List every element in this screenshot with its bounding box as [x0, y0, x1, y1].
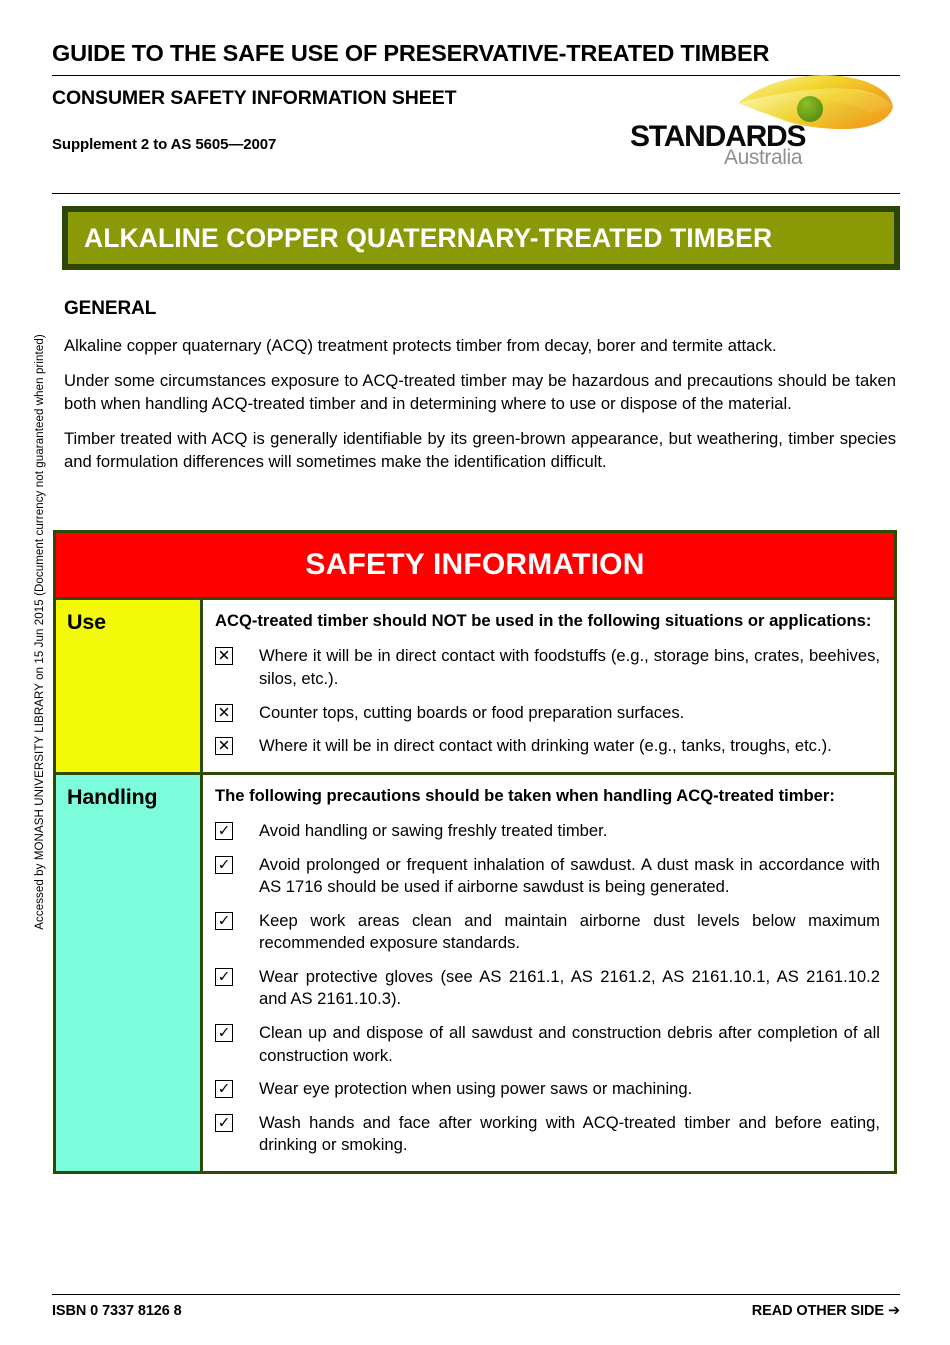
cross-checkbox-icon: ✕ — [215, 647, 233, 665]
use-item-text-3: Where it will be in direct contact with … — [259, 735, 880, 758]
list-item: ✓ Avoid handling or sawing freshly treat… — [215, 820, 880, 843]
cross-glyph: ✕ — [216, 649, 232, 664]
use-intro-text: ACQ-treated timber should NOT be used in… — [215, 610, 880, 632]
read-other-side-note: READ OTHER SIDE ➔ — [752, 1303, 900, 1319]
tick-glyph: ✓ — [216, 1082, 232, 1097]
tick-checkbox-icon: ✓ — [215, 822, 233, 840]
use-item-text-2: Counter tops, cutting boards or food pre… — [259, 702, 880, 725]
list-item: ✓ Keep work areas clean and maintain air… — [215, 910, 880, 955]
safety-row-content-handling: The following precautions should be take… — [203, 775, 894, 1171]
document-header: GUIDE TO THE SAFE USE OF PRESERVATIVE-TR… — [52, 40, 900, 194]
handling-intro-text: The following precautions should be take… — [215, 785, 880, 807]
cross-checkbox-icon: ✕ — [215, 737, 233, 755]
product-banner: ALKALINE COPPER QUATERNARY-TREATED TIMBE… — [62, 206, 900, 270]
list-item: ✓ Wash hands and face after working with… — [215, 1112, 880, 1157]
safety-row-label-use-text: Use — [67, 610, 200, 635]
list-item: ✓ Avoid prolonged or frequent inhalation… — [215, 854, 880, 899]
general-section: GENERAL Alkaline copper quaternary (ACQ)… — [64, 298, 896, 474]
handling-item-text-1: Avoid handling or sawing freshly treated… — [259, 820, 880, 843]
handling-item-text-7: Wash hands and face after working with A… — [259, 1112, 880, 1157]
tick-glyph: ✓ — [216, 1025, 232, 1040]
header-subblock: CONSUMER SAFETY INFORMATION SHEET Supple… — [52, 76, 900, 176]
tick-glyph: ✓ — [216, 1115, 232, 1130]
safety-row-label-handling-text: Handling — [67, 785, 200, 810]
cross-checkbox-icon: ✕ — [215, 704, 233, 722]
handling-item-text-4: Wear protective gloves (see AS 2161.1, A… — [259, 966, 880, 1011]
general-heading: GENERAL — [64, 298, 896, 320]
cross-glyph: ✕ — [216, 739, 232, 754]
tick-glyph: ✓ — [216, 857, 232, 872]
list-item: ✕ Counter tops, cutting boards or food p… — [215, 702, 880, 725]
list-item: ✓ Wear eye protection when using power s… — [215, 1078, 880, 1101]
safety-row-label-handling: Handling — [56, 775, 203, 1171]
handling-item-text-2: Avoid prolonged or frequent inhalation o… — [259, 854, 880, 899]
list-item: ✓ Clean up and dispose of all sawdust an… — [215, 1022, 880, 1067]
tick-checkbox-icon: ✓ — [215, 1080, 233, 1098]
safety-row-handling: Handling The following precautions shoul… — [56, 775, 894, 1171]
safety-row-label-use: Use — [56, 600, 203, 772]
list-item: ✕ Where it will be in direct contact wit… — [215, 735, 880, 758]
cross-glyph: ✕ — [216, 705, 232, 720]
logo-submark: Australia — [724, 146, 802, 170]
product-banner-title: ALKALINE COPPER QUATERNARY-TREATED TIMBE… — [84, 223, 772, 254]
standards-australia-logo: STANDARDS Australia — [624, 76, 894, 171]
handling-item-text-6: Wear eye protection when using power saw… — [259, 1078, 880, 1101]
list-item: ✕ Where it will be in direct contact wit… — [215, 645, 880, 690]
general-paragraph-2: Under some circumstances exposure to ACQ… — [64, 369, 896, 416]
isbn-text: ISBN 0 7337 8126 8 — [52, 1303, 182, 1319]
list-item: ✓ Wear protective gloves (see AS 2161.1,… — [215, 966, 880, 1011]
tick-checkbox-icon: ✓ — [215, 968, 233, 986]
general-paragraph-1: Alkaline copper quaternary (ACQ) treatme… — [64, 334, 896, 358]
document-footer: ISBN 0 7337 8126 8 READ OTHER SIDE ➔ — [52, 1294, 900, 1319]
document-title: GUIDE TO THE SAFE USE OF PRESERVATIVE-TR… — [52, 40, 900, 75]
library-access-stamp: Accessed by MONASH UNIVERSITY LIBRARY on… — [0, 0, 44, 1345]
tick-glyph: ✓ — [216, 969, 232, 984]
handling-item-text-5: Clean up and dispose of all sawdust and … — [259, 1022, 880, 1067]
safety-information-header-text: SAFETY INFORMATION — [305, 548, 644, 582]
handling-item-text-3: Keep work areas clean and maintain airbo… — [259, 910, 880, 955]
tick-checkbox-icon: ✓ — [215, 1024, 233, 1042]
safety-information-table: SAFETY INFORMATION Use ACQ-treated timbe… — [53, 530, 897, 1174]
use-item-text-1: Where it will be in direct contact with … — [259, 645, 880, 690]
tick-checkbox-icon: ✓ — [215, 912, 233, 930]
tick-checkbox-icon: ✓ — [215, 856, 233, 874]
tick-glyph: ✓ — [216, 913, 232, 928]
arrow-right-icon: ➔ — [888, 1303, 900, 1319]
general-paragraph-3: Timber treated with ACQ is generally ide… — [64, 427, 896, 474]
access-stamp-text: Accessed by MONASH UNIVERSITY LIBRARY on… — [34, 262, 46, 1002]
document-page: Accessed by MONASH UNIVERSITY LIBRARY on… — [0, 0, 950, 1345]
header-divider-bottom — [52, 193, 900, 194]
safety-row-content-use: ACQ-treated timber should NOT be used in… — [203, 600, 894, 772]
safety-information-header: SAFETY INFORMATION — [56, 533, 894, 600]
tick-checkbox-icon: ✓ — [215, 1114, 233, 1132]
tick-glyph: ✓ — [216, 824, 232, 839]
read-other-side-label: READ OTHER SIDE — [752, 1303, 884, 1319]
safety-row-use: Use ACQ-treated timber should NOT be use… — [56, 600, 894, 775]
